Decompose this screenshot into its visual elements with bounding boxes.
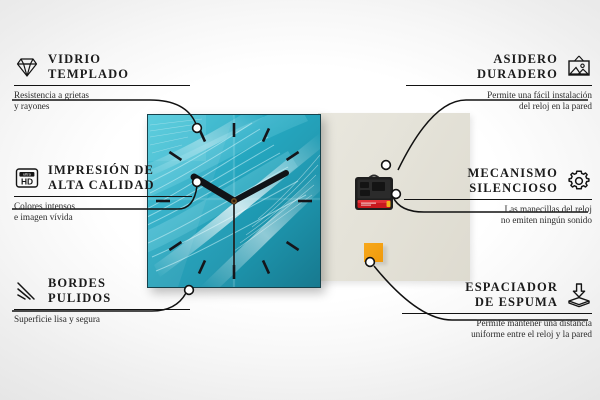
- feature-description: Permite mantener una distancia uniforme …: [402, 318, 592, 341]
- feature-title-line2: DE ESPUMA: [465, 295, 558, 310]
- feature-mecanismo-silencioso: MECANISMO SILENCIOSO Las manecillas del …: [404, 166, 592, 227]
- divider: [14, 309, 190, 310]
- polished-edges-icon: [14, 278, 40, 304]
- feature-title-line1: ESPACIADOR: [465, 280, 558, 295]
- feature-header: MECANISMO SILENCIOSO: [404, 166, 592, 196]
- divider: [14, 85, 190, 86]
- feature-title-line1: MECANISMO: [468, 166, 558, 181]
- feature-header: ultra HD IMPRESIÓN DE ALTA CALIDAD: [14, 163, 192, 193]
- diamond-icon: [14, 54, 40, 80]
- hanging-frame-icon: [566, 54, 592, 80]
- feature-bordes-pulidos: BORDES PULIDOS Superficie lisa y segura: [14, 276, 190, 325]
- feature-description: Resistencia a grietas y rayones: [14, 90, 190, 113]
- feature-title-line2: TEMPLADO: [48, 67, 129, 82]
- feature-espaciador-de-espuma: ESPACIADOR DE ESPUMA Permite mantener un…: [402, 280, 592, 341]
- feature-title-line2: ALTA CALIDAD: [48, 178, 155, 193]
- divider: [402, 313, 592, 314]
- feature-title-line2: DURADERO: [477, 67, 558, 82]
- svg-text:HD: HD: [21, 177, 33, 187]
- feature-description: Colores intensos e imagen vívida: [14, 201, 192, 224]
- foam-spacer-icon: [566, 282, 592, 308]
- feature-asidero-duradero: ASIDERO DURADERO Permite una fácil insta…: [406, 52, 592, 113]
- feature-title-line1: ASIDERO: [477, 52, 558, 67]
- feature-header: ASIDERO DURADERO: [406, 52, 592, 82]
- feature-header: BORDES PULIDOS: [14, 276, 190, 306]
- gear-icon: [566, 168, 592, 194]
- infographic-canvas: VIDRIO TEMPLADO Resistencia a grietas y …: [0, 0, 600, 400]
- feature-description: Permite una fácil instalación del reloj …: [406, 90, 592, 113]
- feature-title-line2: SILENCIOSO: [468, 181, 558, 196]
- feature-impresion-alta-calidad: ultra HD IMPRESIÓN DE ALTA CALIDAD Color…: [14, 163, 192, 224]
- divider: [406, 85, 592, 86]
- feature-title-line1: IMPRESIÓN DE: [48, 163, 155, 178]
- feature-title-line1: BORDES: [48, 276, 111, 291]
- feature-header: VIDRIO TEMPLADO: [14, 52, 190, 82]
- feature-vidrio-templado: VIDRIO TEMPLADO Resistencia a grietas y …: [14, 52, 190, 113]
- feature-header: ESPACIADOR DE ESPUMA: [402, 280, 592, 310]
- feature-description: Superficie lisa y segura: [14, 314, 190, 325]
- feature-description: Las manecillas del reloj no emiten ningú…: [404, 204, 592, 227]
- feature-title-line2: PULIDOS: [48, 291, 111, 306]
- divider: [404, 199, 592, 200]
- feature-title-line1: VIDRIO: [48, 52, 129, 67]
- divider: [14, 196, 192, 197]
- ultra-hd-badge-icon: ultra HD: [14, 165, 40, 191]
